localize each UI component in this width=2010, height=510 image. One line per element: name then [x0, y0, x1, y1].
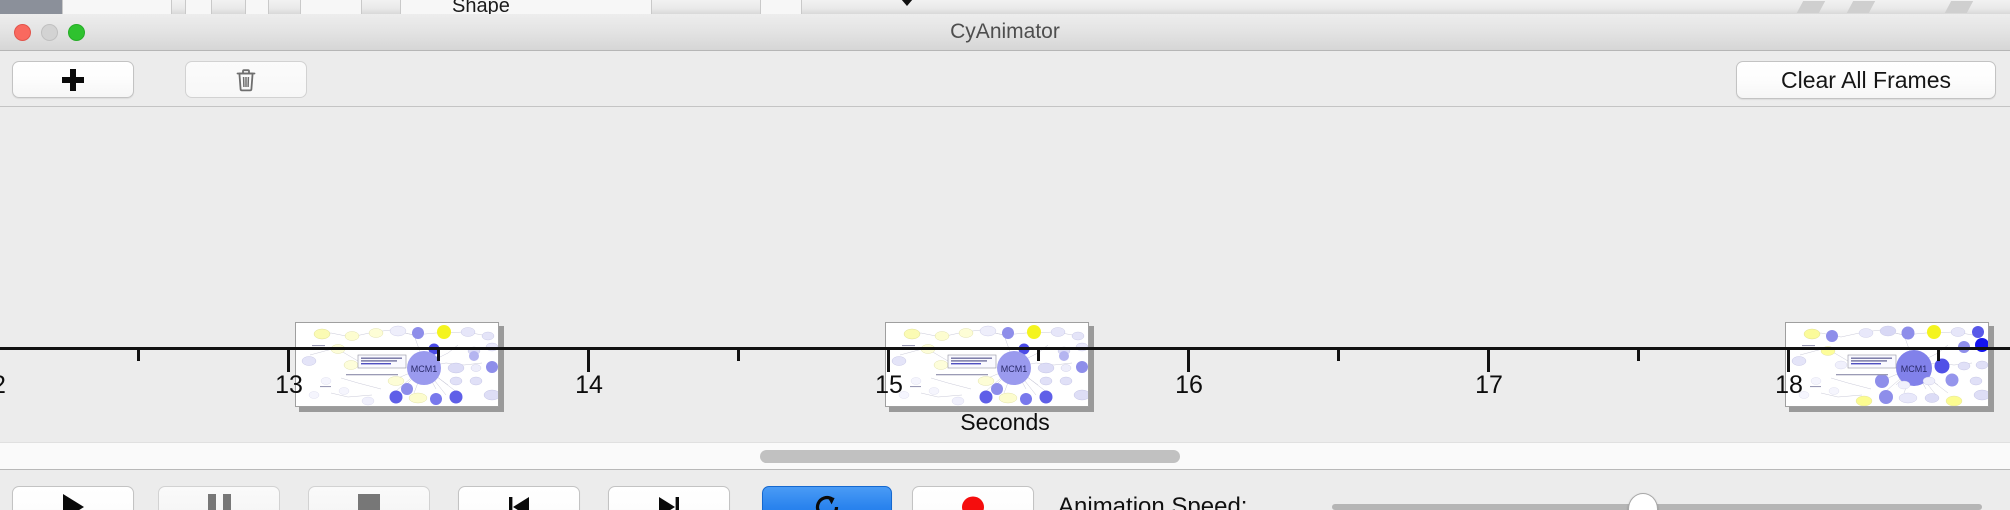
- ruler-label: 13: [275, 371, 303, 400]
- ruler-tick-major: [1187, 350, 1190, 372]
- stop-button[interactable]: [308, 486, 430, 510]
- record-icon: [960, 494, 986, 510]
- timeline-scrollbar[interactable]: [0, 442, 2010, 470]
- ruler-label: 16: [1175, 371, 1203, 400]
- ruler-tick-major: [887, 350, 890, 372]
- background-tab-4: [300, 0, 362, 14]
- previous-frame-button[interactable]: [458, 486, 580, 510]
- ruler-tick-major: [287, 350, 290, 372]
- ruler-label: 14: [575, 371, 603, 400]
- play-button[interactable]: [12, 486, 134, 510]
- play-icon: [63, 494, 84, 510]
- slider-thumb[interactable]: [1628, 493, 1658, 510]
- background-caret-icon: [901, 0, 913, 6]
- skip-forward-icon: [655, 494, 683, 510]
- window-title: CyAnimator: [0, 14, 2010, 50]
- ruler-tick-minor: [1937, 350, 1940, 361]
- timeline-axis-title: Seconds: [0, 409, 2010, 436]
- record-button[interactable]: [912, 486, 1034, 510]
- ruler-tick-minor: [1037, 350, 1040, 361]
- skip-back-icon: [505, 494, 533, 510]
- trash-icon: [233, 67, 259, 93]
- next-frame-button[interactable]: [608, 486, 730, 510]
- background-tab-1: [62, 0, 172, 14]
- ruler-label: 18: [1775, 371, 1803, 400]
- frames-area[interactable]: MCM1: [0, 107, 2010, 351]
- background-tab-5: [400, 0, 652, 14]
- stop-icon: [358, 494, 380, 510]
- pause-button[interactable]: [158, 486, 280, 510]
- timeline-panel[interactable]: MCM1: [0, 107, 2010, 442]
- clear-all-frames-button[interactable]: Clear All Frames: [1736, 61, 1996, 99]
- ruler-tick-minor: [437, 350, 440, 361]
- ruler-tick-major: [1787, 350, 1790, 372]
- ruler-label: 15: [875, 371, 903, 400]
- background-tab-6: [760, 0, 802, 14]
- clear-all-frames-label: Clear All Frames: [1781, 67, 1951, 94]
- background-tab-3: [245, 0, 269, 14]
- playback-controls: Animation Speed:: [0, 470, 2010, 510]
- background-tab-2: [185, 0, 212, 14]
- pause-icon: [208, 494, 231, 510]
- background-window-sidebar: [0, 0, 62, 14]
- ruler-axis-line: [0, 347, 2010, 350]
- animation-speed-slider[interactable]: [1332, 486, 1982, 510]
- background-slash-2: [1847, 1, 1875, 13]
- add-frame-button[interactable]: [12, 61, 134, 98]
- background-slash-1: [1797, 1, 1825, 13]
- ruler-label: 17: [1475, 371, 1503, 400]
- timeline-ruler[interactable]: 2 13 14 15 16 17 18 Seconds: [0, 347, 2010, 442]
- loop-icon: [812, 492, 842, 510]
- scrollbar-thumb[interactable]: [760, 450, 1180, 463]
- loop-button[interactable]: [762, 486, 892, 510]
- background-slash-3: [1945, 1, 1973, 13]
- delete-frame-button[interactable]: [185, 61, 307, 98]
- plus-icon: [61, 68, 85, 92]
- ruler-tick-minor: [737, 350, 740, 361]
- ruler-tick-minor: [1637, 350, 1640, 361]
- ruler-tick-minor: [1337, 350, 1340, 361]
- cyanimator-window: CyAnimator Clear All Frames: [0, 14, 2010, 510]
- background-window-strip: Shape: [0, 0, 2010, 14]
- ruler-tick-major: [1487, 350, 1490, 372]
- ruler-tick-minor: [137, 350, 140, 361]
- background-window-label: Shape: [452, 0, 510, 14]
- ruler-tick-major: [587, 350, 590, 372]
- ruler-label: 2: [0, 371, 6, 400]
- titlebar: CyAnimator: [0, 14, 2010, 51]
- animation-speed-label: Animation Speed:: [1058, 486, 1247, 510]
- toolbar: Clear All Frames: [0, 51, 2010, 107]
